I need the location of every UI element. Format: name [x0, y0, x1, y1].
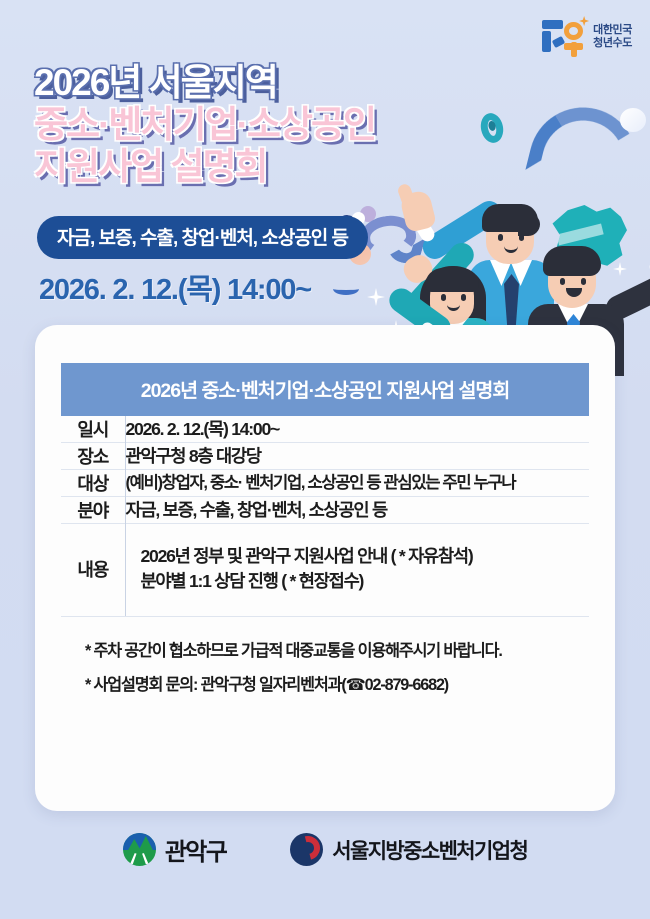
seoul-sme-office-logo: 서울지방중소벤처기업청 — [290, 833, 527, 866]
event-info-card: 2026년 중소·벤처기업·소상공인 지원사업 설명회 일시 2026. 2. … — [35, 325, 615, 811]
gwanak-mountain-icon — [123, 833, 156, 866]
woman-eye-left — [441, 294, 446, 301]
man-center-eye-left — [498, 234, 503, 241]
table-row: 내용 2026년 정부 및 관악구 지원사업 안내 ( * 자유참석) 분야별 … — [61, 524, 589, 616]
info-table-title: 2026년 중소·벤처기업·소상공인 지원사업 설명회 — [61, 363, 589, 416]
table-row: 대상 (예비)창업자, 중소· 벤처기업, 소상공인 등 관심있는 주민 누구나 — [61, 470, 589, 497]
gwanak-ci-logo: 대한민국 청년수도 — [541, 16, 632, 58]
man-center-eye-right — [519, 234, 524, 241]
arc-highlight-dot — [620, 108, 646, 132]
footer-logos: 관악구 서울지방중소벤처기업청 — [0, 832, 650, 867]
headline-line-1: 2026년 서울지역 — [34, 62, 375, 104]
blue-arc-shape — [525, 96, 648, 196]
row-label-jangso: 장소 — [61, 443, 125, 470]
gwanak-logomark-icon — [541, 16, 587, 58]
ci-tagline: 대한민국 청년수도 — [593, 24, 632, 50]
teal-ring-shape — [478, 111, 506, 145]
ci-tagline-line1: 대한민국 — [593, 24, 632, 37]
row-value-ilsi: 2026. 2. 12.(목) 14:00~ — [125, 416, 589, 443]
woman-eye-right — [461, 294, 466, 301]
row-value-naeyong-line1: 2026년 정부 및 관악구 지원사업 안내 ( * 자유참석) — [141, 544, 590, 569]
table-row: 일시 2026. 2. 12.(목) 14:00~ — [61, 416, 589, 443]
lavender-dot — [360, 206, 376, 222]
note-contact: * 사업설명회 문의: 관악구청 일자리벤처과(☎02-879-6682) — [85, 677, 589, 693]
row-value-naeyong: 2026년 정부 및 관악구 지원사업 안내 ( * 자유참석) 분야별 1:1… — [125, 524, 589, 616]
poster-headline: 2026년 서울지역 중소·벤처기업·소상공인 지원사업 설명회 — [34, 62, 375, 189]
man-right-eye-right — [581, 278, 586, 285]
table-row: 장소 관악구청 8층 대강당 — [61, 443, 589, 470]
headline-line-3: 지원사업 설명회 — [34, 146, 375, 188]
row-label-bunya: 분야 — [61, 497, 125, 524]
man-center-hair-side — [518, 214, 540, 236]
blue-wave-mark — [333, 283, 359, 295]
row-value-bunya: 자금, 보증, 수출, 창업·벤처, 소상공인 등 — [125, 497, 589, 524]
row-value-naeyong-line2: 분야별 1:1 상담 진행 ( * 현장접수) — [141, 569, 590, 594]
ci-tagline-line2: 청년수도 — [593, 37, 632, 50]
row-label-ilsi: 일시 — [61, 416, 125, 443]
note-parking: * 주차 공간이 협소하므로 가급적 대중교통을 이용해주시기 바랍니다. — [85, 643, 589, 659]
taeguk-government-icon — [290, 833, 323, 866]
man-right-hair — [543, 246, 601, 276]
event-date-headline: 2026. 2. 12.(목) 14:00~ — [39, 266, 311, 308]
row-label-naeyong: 내용 — [61, 524, 125, 616]
woman-hair-front — [425, 268, 479, 292]
gwanak-gu-label: 관악구 — [165, 832, 226, 867]
man-right-eye-left — [560, 278, 565, 285]
gwanak-gu-logo: 관악구 — [123, 832, 226, 867]
row-label-daesang: 대상 — [61, 470, 125, 497]
topics-badge: 자금, 보증, 수출, 창업·벤처, 소상공인 등 — [37, 216, 368, 259]
card-notes: * 주차 공간이 협소하므로 가급적 대중교통을 이용해주시기 바랍니다. * … — [61, 617, 589, 693]
headline-line-2: 중소·벤처기업·소상공인 — [34, 104, 375, 146]
info-table: 일시 2026. 2. 12.(목) 14:00~ 장소 관악구청 8층 대강당… — [61, 416, 589, 616]
table-row: 분야 자금, 보증, 수출, 창업·벤처, 소상공인 등 — [61, 497, 589, 524]
row-value-jangso: 관악구청 8층 대강당 — [125, 443, 589, 470]
poster-canvas: 대한민국 청년수도 2026년 서울지역 중소·벤처기업·소상공인 지원사업 설… — [0, 0, 650, 919]
row-value-daesang: (예비)창업자, 중소· 벤처기업, 소상공인 등 관심있는 주민 누구나 — [125, 470, 589, 497]
seoul-sme-office-label: 서울지방중소벤처기업청 — [332, 835, 527, 865]
